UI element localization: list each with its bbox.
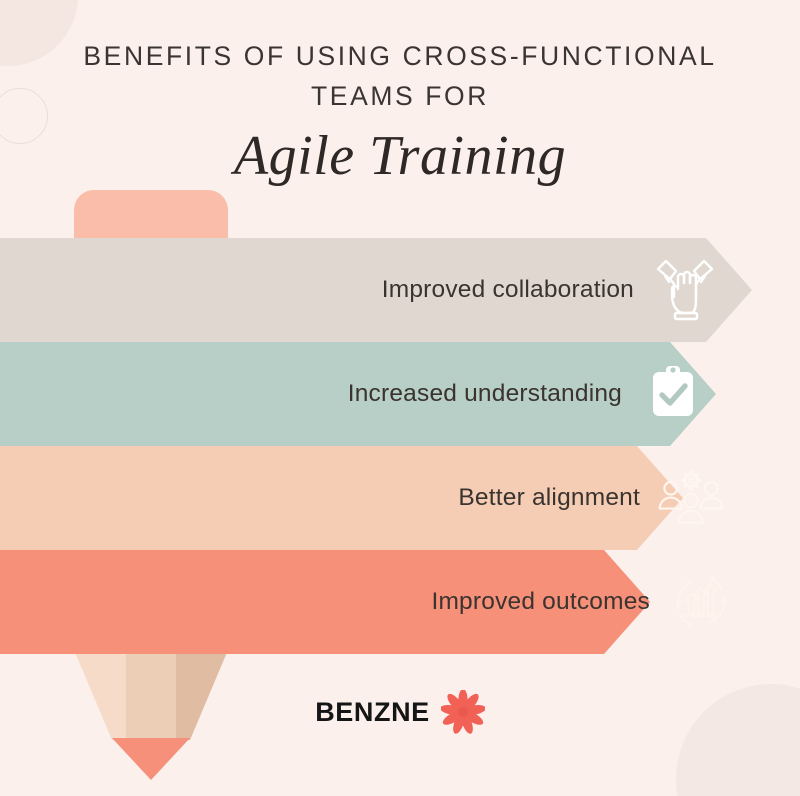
teamwork-hands-icon [648,253,722,327]
benefit-row-better-alignment[interactable]: Better alignment [0,446,800,550]
benefit-label-3: Better alignment [458,484,640,512]
lotus-flower-icon [441,690,485,734]
benefit-label-2: Increased understanding [348,380,622,408]
benefit-label-1: Improved collaboration [382,276,634,304]
benefit-label-4: Improved outcomes [431,588,650,616]
brand-logo: BENZNE [0,690,800,734]
heading-block: BENEFITS OF USING CROSS-FUNCTIONAL TEAMS… [0,36,800,189]
banner-content-4: Improved outcomes [431,550,738,654]
banner-content-1: Improved collaboration [382,238,722,342]
brand-name: BENZNE [315,697,430,728]
heading-line-1: BENEFITS OF USING CROSS-FUNCTIONAL [0,36,800,76]
banner-content-2: Increased understanding [348,342,710,446]
heading-line-2: TEAMS FOR [0,76,800,116]
team-gear-icon [654,461,728,535]
heading-script-title: Agile Training [0,123,800,189]
banner-content-3: Better alignment [458,446,728,550]
benefit-row-improved-outcomes[interactable]: Improved outcomes [0,550,800,654]
pencil-eraser [74,190,228,242]
lotus-flower-svg [441,690,485,734]
benefit-row-improved-collaboration[interactable]: Improved collaboration [0,238,800,342]
pencil-tip [74,738,228,780]
pencil-tip-svg [74,738,228,780]
growth-cycle-icon [664,565,738,639]
infographic-canvas: BENEFITS OF USING CROSS-FUNCTIONAL TEAMS… [0,0,800,796]
benefit-row-increased-understanding[interactable]: Increased understanding [0,342,800,446]
clipboard-check-icon [636,357,710,431]
benefits-list: Improved collaboration [0,238,800,654]
